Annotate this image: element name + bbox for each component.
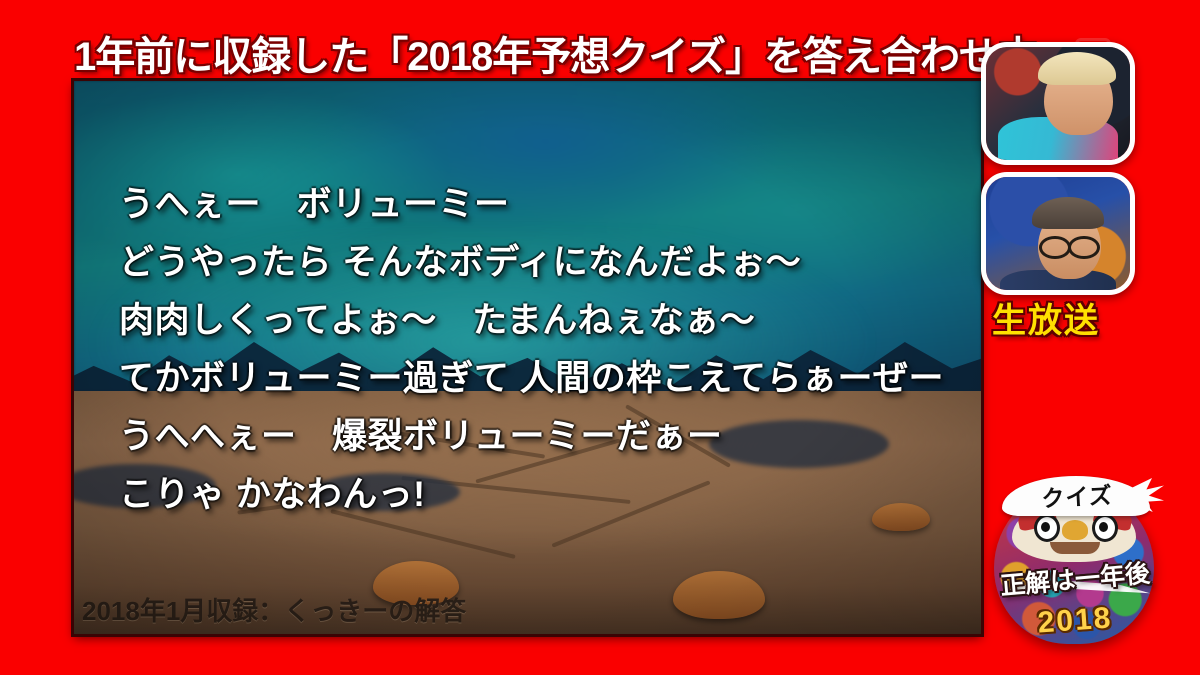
daruma-nose — [1062, 520, 1088, 540]
subtitle-line: てかボリューミー過ぎて 人間の枠こえてらぁーぜー — [119, 350, 979, 408]
recording-caption: 2018年1月収録：くっきーの解答 — [82, 591, 466, 628]
daruma-eye-left — [1034, 514, 1060, 542]
daruma-eye-right — [1092, 514, 1118, 542]
panelist-thumbnail-2[interactable] — [981, 172, 1135, 295]
headline-banner: 1年前に収録した「2018年予想クイズ」を答え合わせ中 — [74, 33, 979, 81]
subtitle-line: うへへぇー 爆裂ボリューミーだぁー — [119, 408, 979, 466]
panelist-thumbnail-1[interactable] — [981, 42, 1135, 165]
subtitle-block: うへぇー ボリューミー どうやったら そんなボディになんだよぉ〜 肉肉しくってよ… — [119, 176, 979, 524]
program-logo: クイズ 正解は一年後 2018 — [988, 468, 1161, 648]
logo-quiz-text: クイズ — [1021, 475, 1133, 515]
broadcast-screen: 1年前に収録した「2018年予想クイズ」を答え合わせ中 2018年1月収録：くっ… — [0, 0, 1200, 675]
subtitle-line: うへぇー ボリューミー — [119, 176, 979, 234]
subtitle-line: どうやったら そんなボディになんだよぉ〜 — [119, 234, 979, 292]
subtitle-line: こりゃ かなわんっ! — [119, 466, 979, 524]
subtitle-line: 肉肉しくってよぉ〜 たまんねぇなぁ〜 — [119, 292, 979, 350]
live-broadcast-badge: 生放送 — [992, 293, 1100, 342]
glasses-icon — [1039, 236, 1099, 253]
video-panel: 2018年1月収録：くっきーの解答 うへぇー ボリューミー どうやったら そんな… — [74, 81, 981, 634]
daruma-mouth — [1050, 542, 1100, 554]
